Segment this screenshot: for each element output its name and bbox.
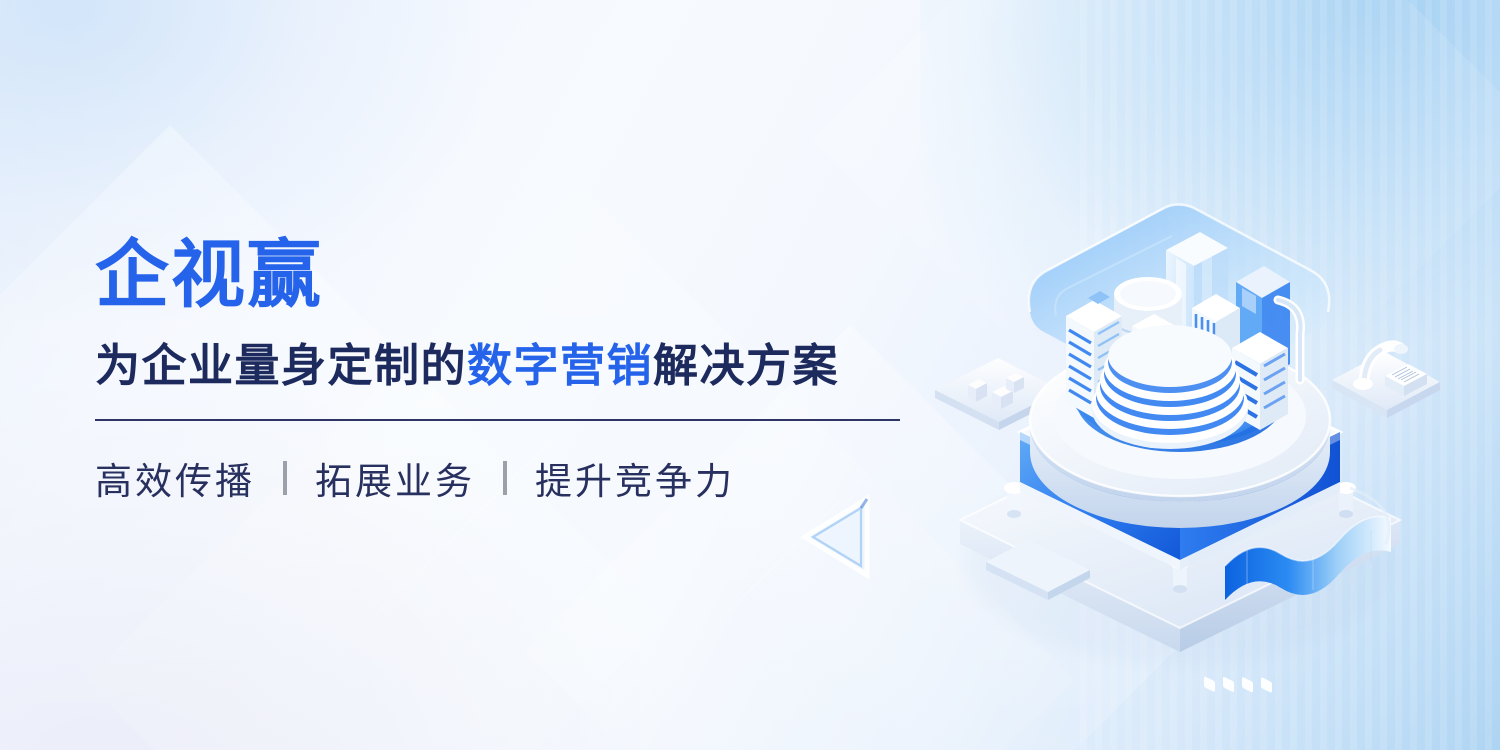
layered-disc-stack	[1092, 325, 1248, 449]
divider-rule	[95, 419, 900, 421]
tagline-item-0: 高效传播	[95, 451, 255, 505]
headline-tail: 解决方案	[653, 340, 839, 391]
tagline-row: 高效传播 拓展业务 提升竞争力	[95, 451, 925, 505]
headline-accent: 数字营销	[467, 340, 653, 391]
hero-banner: 企视赢 为企业量身定制的数字营销解决方案 高效传播 拓展业务 提升竞争力	[0, 0, 1500, 750]
tagline-item-1: 拓展业务	[315, 451, 475, 505]
hero-illustration	[880, 230, 1480, 680]
headline: 为企业量身定制的数字营销解决方案	[95, 340, 925, 392]
headline-lead: 为企业量身定制的	[95, 340, 467, 391]
tagline-separator-icon	[283, 461, 287, 495]
tagline-item-2: 提升竞争力	[535, 451, 735, 505]
hero-text-block: 企视赢 为企业量身定制的数字营销解决方案 高效传播 拓展业务 提升竞争力	[95, 238, 925, 505]
brand-title: 企视赢	[95, 238, 925, 312]
tagline-separator-icon	[503, 461, 507, 495]
